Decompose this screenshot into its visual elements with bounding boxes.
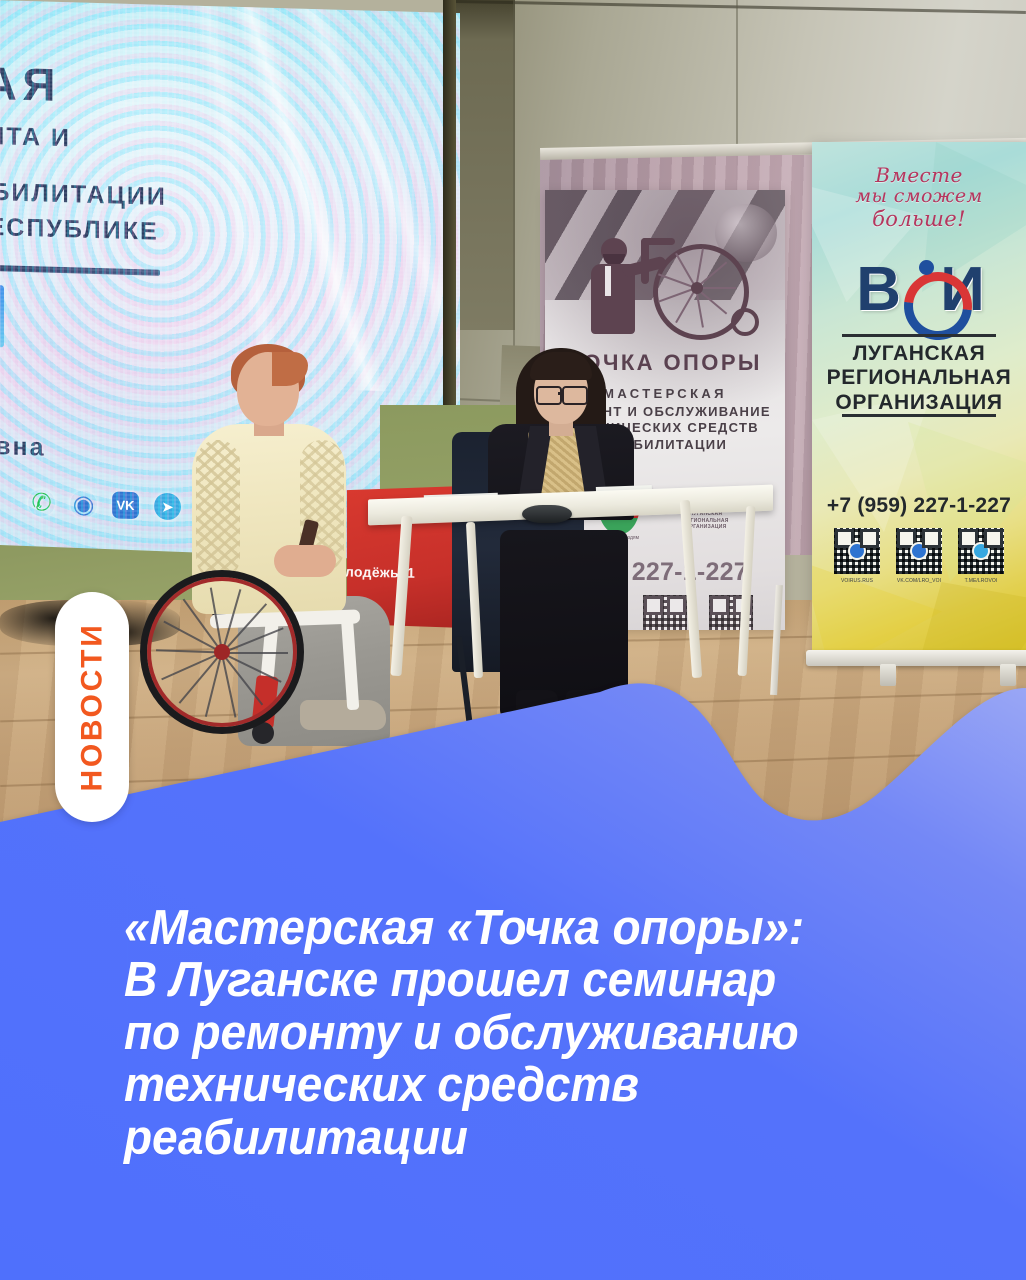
screen-divider xyxy=(0,264,160,276)
eyeglasses-left xyxy=(536,386,562,405)
voi-rule-bottom xyxy=(842,414,996,417)
screen-contact-icons: ✆ ◉ VK ➤ xyxy=(28,489,181,520)
qr-code xyxy=(958,528,1004,574)
banner-voi-lugansk: Вместе мы сможем больше! В И ЛУГАНСКАЯ Р… xyxy=(812,142,1026,660)
wall-panel-dark xyxy=(455,0,515,330)
person-b-fringe xyxy=(530,352,592,380)
slogan-line-2: мы сможем xyxy=(812,186,1026,207)
org-line-3: ОРГАНИЗАЦИЯ xyxy=(812,391,1026,415)
globe-icon: ◉ xyxy=(70,490,97,518)
qr-caption: T.ME/LROVOI xyxy=(958,578,1004,584)
eyeglasses-bridge xyxy=(558,392,564,395)
screen-speaker-name: льевна xyxy=(0,431,46,463)
eyeglasses-right xyxy=(562,386,588,405)
screen-line-3: РЕАБИЛИТАЦИИ xyxy=(0,176,167,212)
mechanic-wheelchair-illustration xyxy=(581,232,757,352)
screen-line-1: КАЯ xyxy=(0,55,61,112)
voi-rule-top xyxy=(842,334,996,337)
slogan-line-1: Вместе xyxy=(812,164,1026,186)
headline-line-5: реабилитации xyxy=(124,1112,942,1164)
person-a-hands xyxy=(274,545,336,577)
phone-icon: ✆ xyxy=(28,489,55,517)
qr-badge-icon xyxy=(972,542,990,560)
org-line-2: РЕГИОНАЛЬНАЯ xyxy=(812,366,1026,390)
news-card: КАЯ МОНТА И РЕАБИЛИТАЦИИ Й РЕСПУБЛИКЕ ль… xyxy=(0,0,1026,1280)
conference-microphone xyxy=(522,505,572,523)
screen-line-4: Й РЕСПУБЛИКЕ xyxy=(0,212,159,247)
wall-seam xyxy=(513,0,515,405)
person-a-sleeve-left xyxy=(196,440,240,580)
screen-line-2: МОНТА И xyxy=(0,121,71,154)
qr-badge-icon xyxy=(848,542,866,560)
vk-icon: VK xyxy=(112,491,139,519)
qr-code xyxy=(896,528,942,574)
banner-right-slogan: Вместе мы сможем больше! xyxy=(812,164,1026,231)
headline-line-3: по ремонту и обслуживанию xyxy=(124,1007,942,1059)
news-badge-label: НОВОСТИ xyxy=(75,623,109,792)
qr-caption: VK.COM/LRO_VOI xyxy=(896,578,942,584)
slogan-line-3: больше! xyxy=(812,208,1026,232)
headline-line-4: технических средств xyxy=(124,1059,942,1111)
qr-caption: VOIRUS.RUS xyxy=(834,578,880,584)
qr-badge-icon xyxy=(910,542,928,560)
telegram-icon: ➤ xyxy=(154,493,181,521)
headline-line-1: «Мастерская «Точка опоры»: xyxy=(124,902,942,954)
qr-code xyxy=(834,528,880,574)
screen-accent-bar xyxy=(0,285,4,348)
voi-logo-person xyxy=(919,260,934,275)
page-title: «Мастерская «Точка опоры»: В Луганске пр… xyxy=(124,902,942,1164)
screen-light-streaks xyxy=(110,0,460,395)
banner-right-qr-codes: VOIRUS.RUS VK.COM/LRO_VOI T.ME/LROVOI xyxy=(812,528,1026,574)
headline-line-2: В Луганске прошел семинар xyxy=(124,954,942,1006)
banner-right-org: ЛУГАНСКАЯ РЕГИОНАЛЬНАЯ ОРГАНИЗАЦИЯ xyxy=(812,342,1026,415)
banner-right-phone: +7 (959) 227-1-227 xyxy=(812,494,1026,518)
org-line-1: ЛУГАНСКАЯ xyxy=(812,342,1026,366)
news-badge[interactable]: НОВОСТИ xyxy=(55,592,129,822)
